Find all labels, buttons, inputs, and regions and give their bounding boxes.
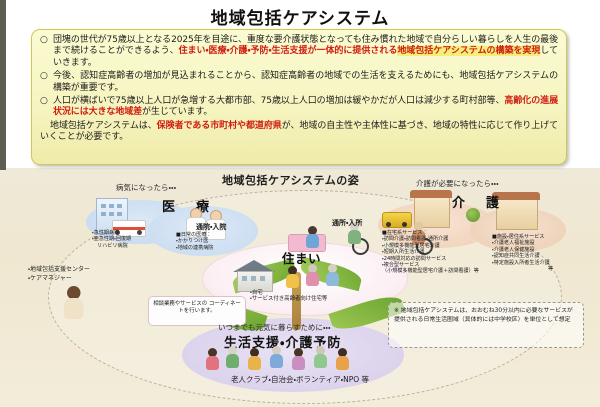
community-figure-4-body [270, 354, 283, 368]
house-window-1 [242, 276, 247, 281]
community-figure-1-body [206, 356, 219, 370]
care-lead-label: 介護が必要になったら・・・ [416, 178, 499, 189]
facility-care-services-text: ■施設・居住系サービス ・介護老人福祉施設 ・介護老人保健施設 ・認知症共同生活… [492, 234, 588, 272]
daily-medical-services-text: ■日常の医療： ・かかりつけ医 ・地域の連携病院 [176, 232, 250, 251]
community-figure-3-body [248, 356, 261, 370]
housing-items-text: ・自宅 ・サービス付き高齢者向け住宅等 [250, 290, 370, 303]
notice-paragraph-2: ○ 今後、認知症高齢者の増加が見込まれることから、認知症高齢者の地域での生活を支… [40, 71, 558, 94]
elder-2-body [326, 272, 339, 286]
community-figure-7-body [336, 356, 349, 370]
support-center-label-2: ・ケアマネジャー [28, 275, 138, 283]
diagram-panel: 地域包括ケアシステムの姿 病気になったら・・・ 医 療 ・急性期病院 ・亜急性期… [0, 168, 600, 407]
notice-box: ○ 団塊の世代が75歳以上となる2025年を目途に、重度な要介護状態となっても住… [31, 29, 567, 165]
care-vehicle-icon [382, 212, 412, 228]
house-window-2 [251, 276, 256, 281]
care-facility-roof [410, 190, 452, 198]
elder-body [306, 272, 319, 286]
page-title: 地域包括ケアシステム [0, 4, 600, 29]
bottom-caption: 老人クラブ・自治会・ボランティア・NPO 等 [0, 374, 600, 385]
house-window-3 [260, 276, 265, 281]
notice-paragraph-1: ○ 団塊の世代が75歳以上となる2025年を目途に、重度な要介護状態となっても住… [40, 35, 558, 69]
notice-paragraph-2-text: 今後、認知症高齢者の増加が見込まれることから、認知症高齢者の地域での生活を支える… [53, 71, 558, 94]
care-manager-body [64, 298, 84, 319]
house-body [237, 271, 273, 292]
diagram-title: 地域包括ケアシステムの姿 [222, 172, 359, 188]
notice-paragraph-3: ○ 人口が横ばいで75歳以上人口が急増する大都市部、75歳以上人口の増加は緩やか… [40, 96, 558, 119]
caregiver-body [306, 234, 319, 248]
arrow-label-outpatient: 通院・入院 [196, 222, 226, 232]
wheelchair-user-body [348, 230, 361, 244]
scope-note-box: ※ 地域包括ケアシステムは、おおむね30分以内に必要なサービスが提供される日常生… [388, 302, 584, 348]
notice-paragraph-1-text: 団塊の世代が75歳以上となる2025年を目途に、重度な要介護状態となっても住み慣… [53, 35, 558, 69]
community-figure-2-body [226, 354, 239, 368]
medical-lead-label: 病気になったら・・・ [116, 182, 176, 193]
community-figure-6-body [314, 354, 327, 368]
arrow-label-daycare: 通所・入所 [332, 218, 362, 228]
bullet-marker: ○ [40, 71, 53, 94]
hospital-services-text: ・急性期病院 ・亜急性期・回復期 リハビリ病院 [92, 230, 156, 249]
support-center-label-1: ・地域包括支援センター [28, 266, 138, 274]
notice-paragraph-4-text: 地域包括ケアシステムは、保険者である市町村や都道府県が、地域の自主性や主体性に基… [40, 121, 558, 144]
home-care-services-text: ■在宅系サービス： ・訪問介護・訪問看護・通所介護 ・小規模多機能型居宅介護 ・… [382, 230, 486, 275]
house-icon [236, 260, 272, 290]
notice-paragraph-3-text: 人口が横ばいで75歳以上人口が急増する大都市部、75歳以上人口の増加は緩やかだが… [53, 96, 558, 119]
notice-paragraph-4: 地域包括ケアシステムは、保険者である市町村や都道府県が、地域の自主性や主体性に基… [40, 121, 558, 144]
bullet-marker: ○ [40, 35, 53, 69]
community-figure-5-body [292, 356, 305, 370]
child-body [286, 274, 299, 288]
bullet-marker: ○ [40, 96, 53, 119]
care-heading: 介 護 [452, 192, 503, 211]
scan-edge-strip [0, 0, 6, 170]
